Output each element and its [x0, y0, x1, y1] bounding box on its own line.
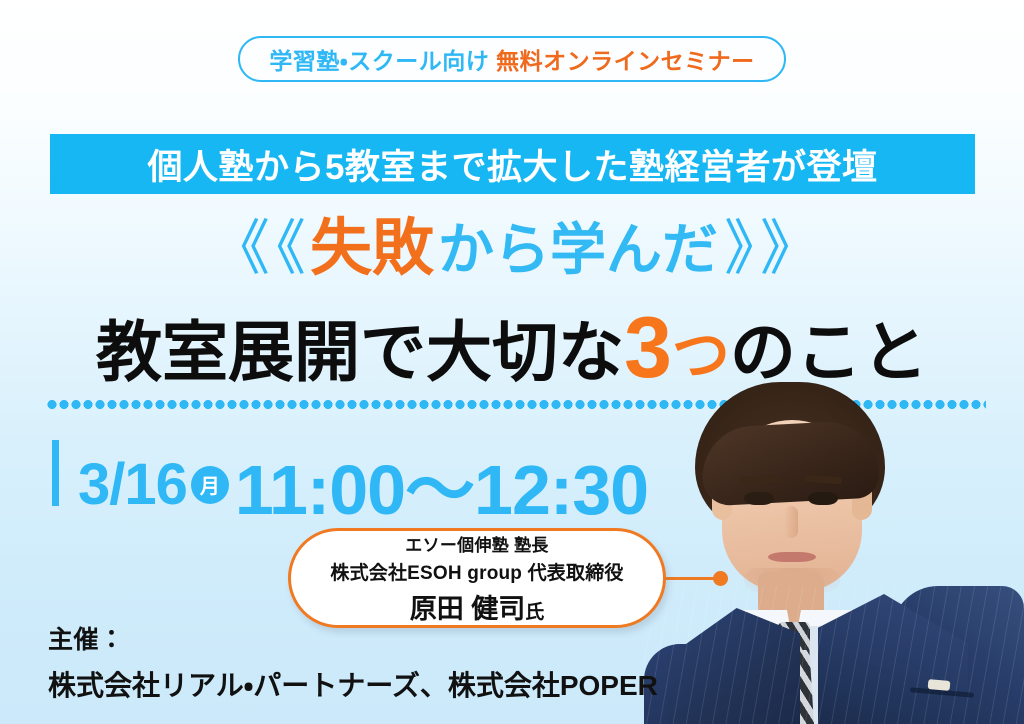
photo-eye-left: [744, 492, 774, 505]
headline-emphasis: 失敗: [306, 214, 438, 283]
headline-number: 3: [624, 300, 672, 396]
banner-text: 個人塾から5教室まで拡大した塾経営者が登壇: [148, 139, 878, 190]
headline-line-1: 《《失敗から学んだ》》: [0, 218, 1024, 280]
schedule-day-of-week-badge: 月: [191, 466, 229, 504]
banner-strip: 個人塾から5教室まで拡大した塾経営者が登壇: [50, 134, 975, 194]
speaker-photo: [640, 372, 1024, 724]
photo-nose: [784, 506, 798, 538]
audience-badge-text: 学習塾・スクール向け 無料オンラインセミナー: [269, 42, 754, 76]
photo-mouth: [768, 552, 816, 562]
schedule-row: 3/16 月 11:00〜12:30: [78, 434, 648, 535]
speaker-name-text: 原田 健司: [410, 594, 526, 624]
callout-leader-dot: [713, 571, 728, 586]
headline-line-2: 教室展開で大切な3つのこと: [0, 305, 1024, 391]
bracket-open-2: 《: [270, 215, 306, 282]
bracket-close-2: 》: [754, 215, 820, 282]
photo-hair-fringe: [700, 419, 880, 506]
speaker-title-1: エソー個伸塾 塾長: [405, 531, 548, 556]
bracket-open: 《: [204, 215, 270, 282]
audience-badge-highlight: 無料オンラインセミナー: [496, 48, 755, 74]
photo-suit-pinstripes: [644, 586, 1024, 724]
audience-badge: 学習塾・スクール向け 無料オンラインセミナー: [238, 36, 786, 82]
speaker-callout: エソー個伸塾 塾長 株式会社ESOH group 代表取締役 原田 健司氏: [288, 528, 666, 628]
speaker-title-2: 株式会社ESOH group 代表取締役: [330, 558, 623, 585]
webinar-poster: 学習塾・スクール向け 無料オンラインセミナー 個人塾から5教室まで拡大した塾経営…: [0, 0, 1024, 724]
organizer-label: 主催：: [48, 620, 658, 656]
bracket-close: 》: [718, 215, 754, 282]
date-accent-bar: [52, 440, 59, 506]
organizer-block: 主催： 株式会社リアル・パートナーズ、株式会社POPER: [48, 620, 658, 704]
schedule-date: 3/16: [78, 451, 187, 518]
audience-badge-prefix: 学習塾・スクール向け: [269, 48, 489, 74]
headline-line2-after: のこと: [730, 315, 928, 389]
photo-pocket-square: [928, 679, 951, 691]
headline-line2-before: 教室展開で大切な: [96, 315, 624, 389]
schedule-time-range: 11:00〜12:30: [235, 434, 648, 535]
headline-rest: から学んだ: [438, 218, 718, 281]
organizer-names: 株式会社リアル・パートナーズ、株式会社POPER: [48, 664, 658, 704]
photo-eye-right: [808, 492, 838, 505]
headline-counter: つ: [672, 323, 730, 388]
